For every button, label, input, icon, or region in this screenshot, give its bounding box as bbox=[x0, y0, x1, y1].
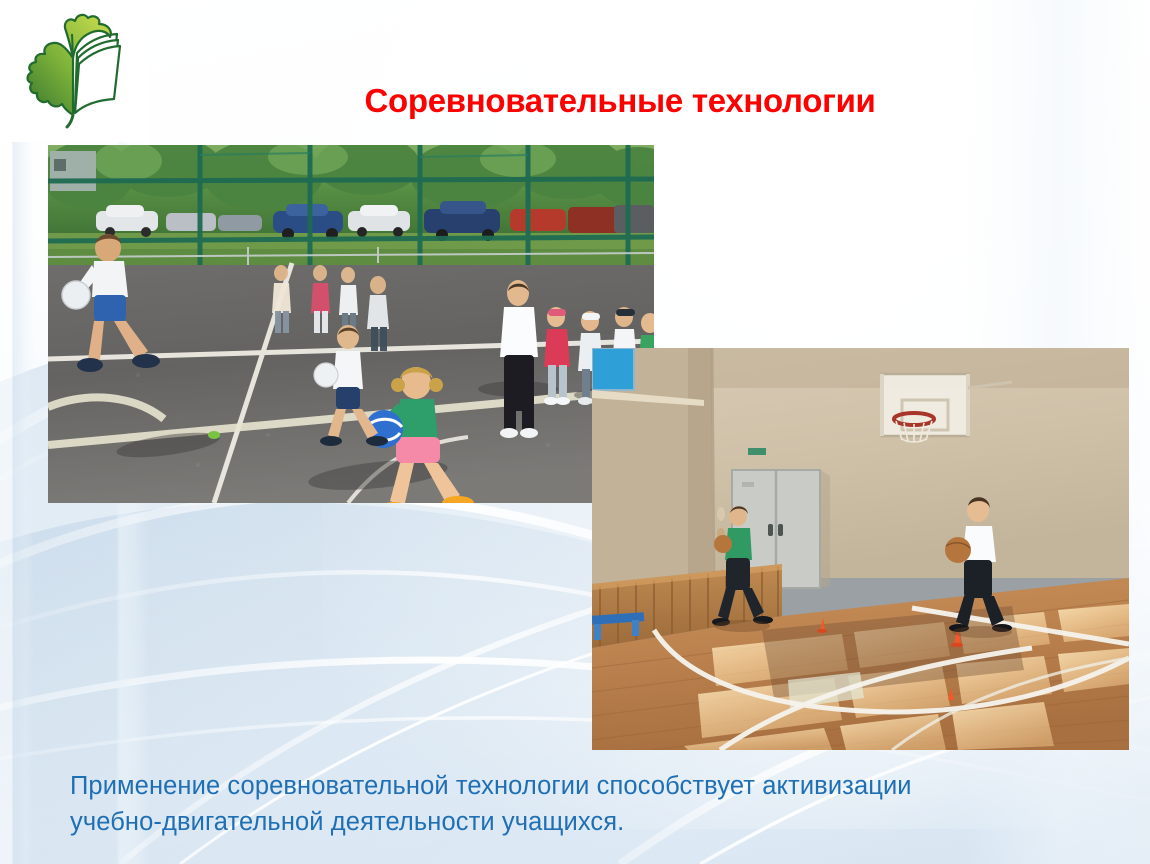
caption-line-1: Применение соревновательной технологии с… bbox=[70, 768, 1090, 804]
presentation-slide: Соревновательные технологии bbox=[0, 0, 1150, 864]
slide-title: Соревновательные технологии bbox=[180, 83, 1060, 119]
outdoor-sports-ground-photo bbox=[48, 145, 654, 503]
caption-line-2: учебно-двигательной деятельности учащихс… bbox=[70, 804, 1090, 840]
oak-leaf-book-logo bbox=[0, 0, 148, 142]
gymnasium-photo bbox=[592, 348, 1129, 750]
slide-caption: Применение соревновательной технологии с… bbox=[70, 768, 1090, 840]
